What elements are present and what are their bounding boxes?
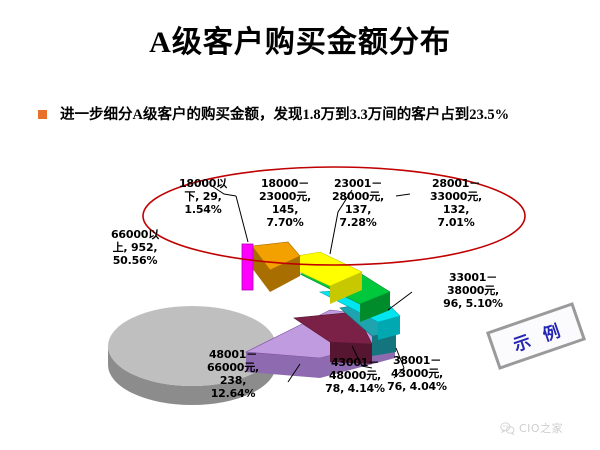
stamp-char-li: 例 (539, 316, 563, 345)
pie-slice-18000-23000 (252, 242, 300, 292)
bullet-marker-icon (38, 110, 47, 119)
stamp-char-shi: 示 (509, 326, 533, 355)
label-48001-66000: 48001－ 66000元, 238, 12.64% (190, 349, 276, 401)
label-under-18000: 18000以 下, 29, 1.54% (163, 178, 243, 217)
pie-chart: 66000以 上, 952, 50.56% 18000以 下, 29, 1.54… (0, 150, 600, 430)
pie-slice-under-18000 (242, 244, 253, 290)
wechat-icon (500, 422, 515, 435)
bullet-text: 进一步细分A级客户的购买金额，发现1.8万到3.3万间的客户占到23.5% (60, 104, 509, 126)
bullet-row: 进一步细分A级客户的购买金额，发现1.8万到3.3万间的客户占到23.5% (38, 104, 568, 126)
label-33001-38000: 33001－ 38000元, 96, 5.10% (427, 272, 519, 311)
slide-canvas: A级客户购买金额分布 进一步细分A级客户的购买金额，发现1.8万到3.3万间的客… (0, 0, 600, 450)
label-43001-48000: 43001－ 48000元, 78, 4.14% (311, 357, 399, 396)
page-title: A级客户购买金额分布 (0, 26, 600, 59)
watermark: CIO之家 (500, 420, 563, 436)
label-66000-above: 66000以 上, 952, 50.56% (92, 229, 178, 268)
label-18000-23000: 18000－ 23000元, 145, 7.70% (244, 178, 326, 230)
label-23001-28000: 23001－ 28000元, 137, 7.28% (317, 178, 399, 230)
watermark-text: CIO之家 (519, 420, 563, 436)
label-28001-33000: 28001－ 33000元, 132, 7.01% (414, 178, 498, 230)
